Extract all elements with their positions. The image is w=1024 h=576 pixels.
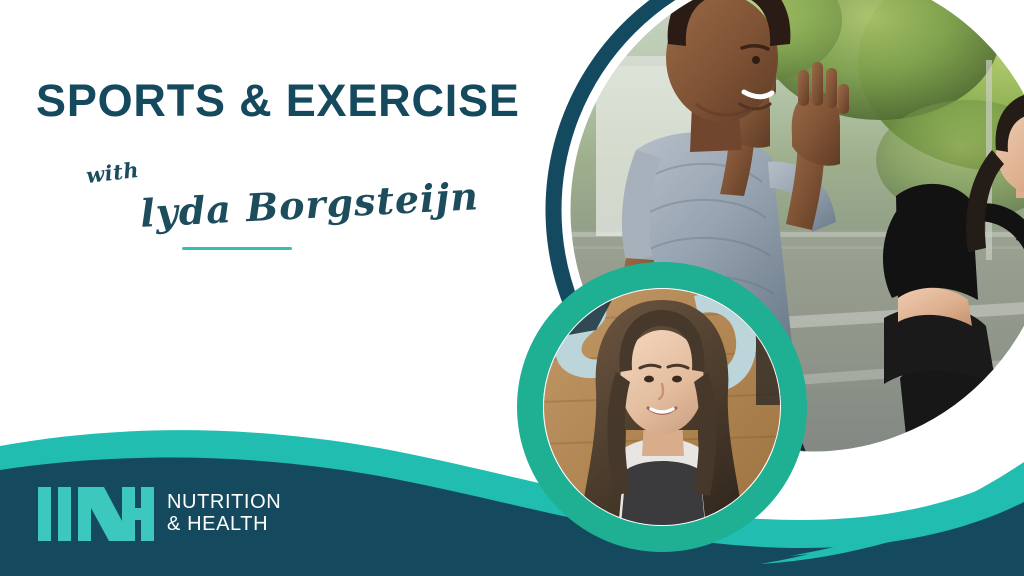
banner-canvas: SPORTS & EXERCISE with lyda Borgsteijn N… — [0, 0, 1024, 576]
banner-artwork — [0, 0, 1024, 576]
